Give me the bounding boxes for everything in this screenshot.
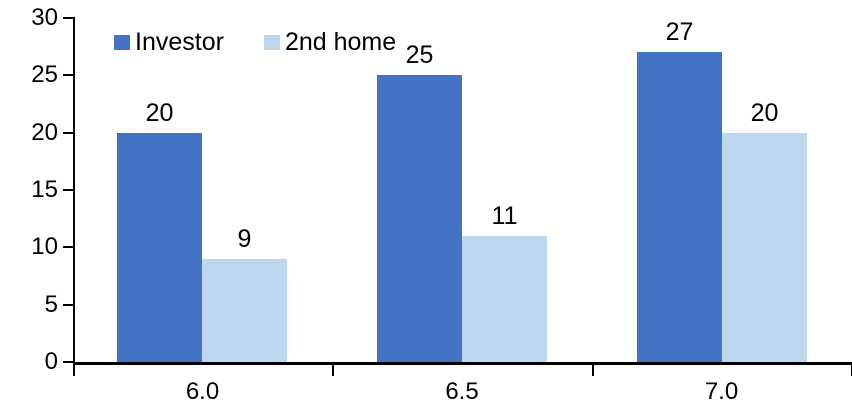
legend-item[interactable]: Investor xyxy=(114,30,224,55)
y-axis-tick xyxy=(63,246,74,248)
y-axis-tick xyxy=(63,132,74,134)
legend-swatch-icon xyxy=(264,35,280,50)
x-axis-tick-label: 7.0 xyxy=(705,380,738,404)
bar[interactable] xyxy=(202,259,287,362)
bar-value-label: 25 xyxy=(406,43,434,68)
bar[interactable] xyxy=(722,133,807,362)
x-axis-tick xyxy=(592,364,594,376)
legend-swatch-icon xyxy=(114,35,130,50)
x-axis-tick-label: 6.0 xyxy=(186,380,219,404)
x-axis-tick xyxy=(73,364,75,376)
bar-value-label: 20 xyxy=(751,101,779,126)
bar-value-label: 11 xyxy=(492,204,518,229)
chart-legend: Investor2nd home xyxy=(114,30,396,55)
y-axis-tick-label: 5 xyxy=(6,293,58,317)
x-axis-tick xyxy=(332,364,334,376)
y-axis-tick-label: 25 xyxy=(6,63,58,87)
bar-value-label: 27 xyxy=(666,20,694,45)
bar[interactable] xyxy=(377,75,462,362)
y-axis-tick-label: 30 xyxy=(6,6,58,30)
y-axis-tick-label: 10 xyxy=(6,235,58,259)
y-axis-tick xyxy=(63,304,74,306)
legend-label: Investor xyxy=(135,30,224,55)
y-axis-tick xyxy=(63,17,74,19)
x-axis-tick-label: 6.5 xyxy=(445,380,478,404)
bar-value-label: 20 xyxy=(146,101,174,126)
bar-chart: 051015202530 20925112720 6.06.57.0 Inves… xyxy=(0,0,852,410)
legend-label: 2nd home xyxy=(285,30,396,55)
bar-value-label: 9 xyxy=(238,227,252,252)
y-axis-tick xyxy=(63,74,74,76)
bar[interactable] xyxy=(117,133,202,362)
bar[interactable] xyxy=(637,52,722,362)
y-axis-line xyxy=(73,17,75,365)
bar[interactable] xyxy=(462,236,547,362)
y-axis-tick-label: 0 xyxy=(6,350,58,374)
y-axis-tick-label: 20 xyxy=(6,121,58,145)
legend-item[interactable]: 2nd home xyxy=(264,30,396,55)
y-axis-tick-label: 15 xyxy=(6,178,58,202)
x-axis-line xyxy=(73,362,852,365)
y-axis-tick xyxy=(63,189,74,191)
